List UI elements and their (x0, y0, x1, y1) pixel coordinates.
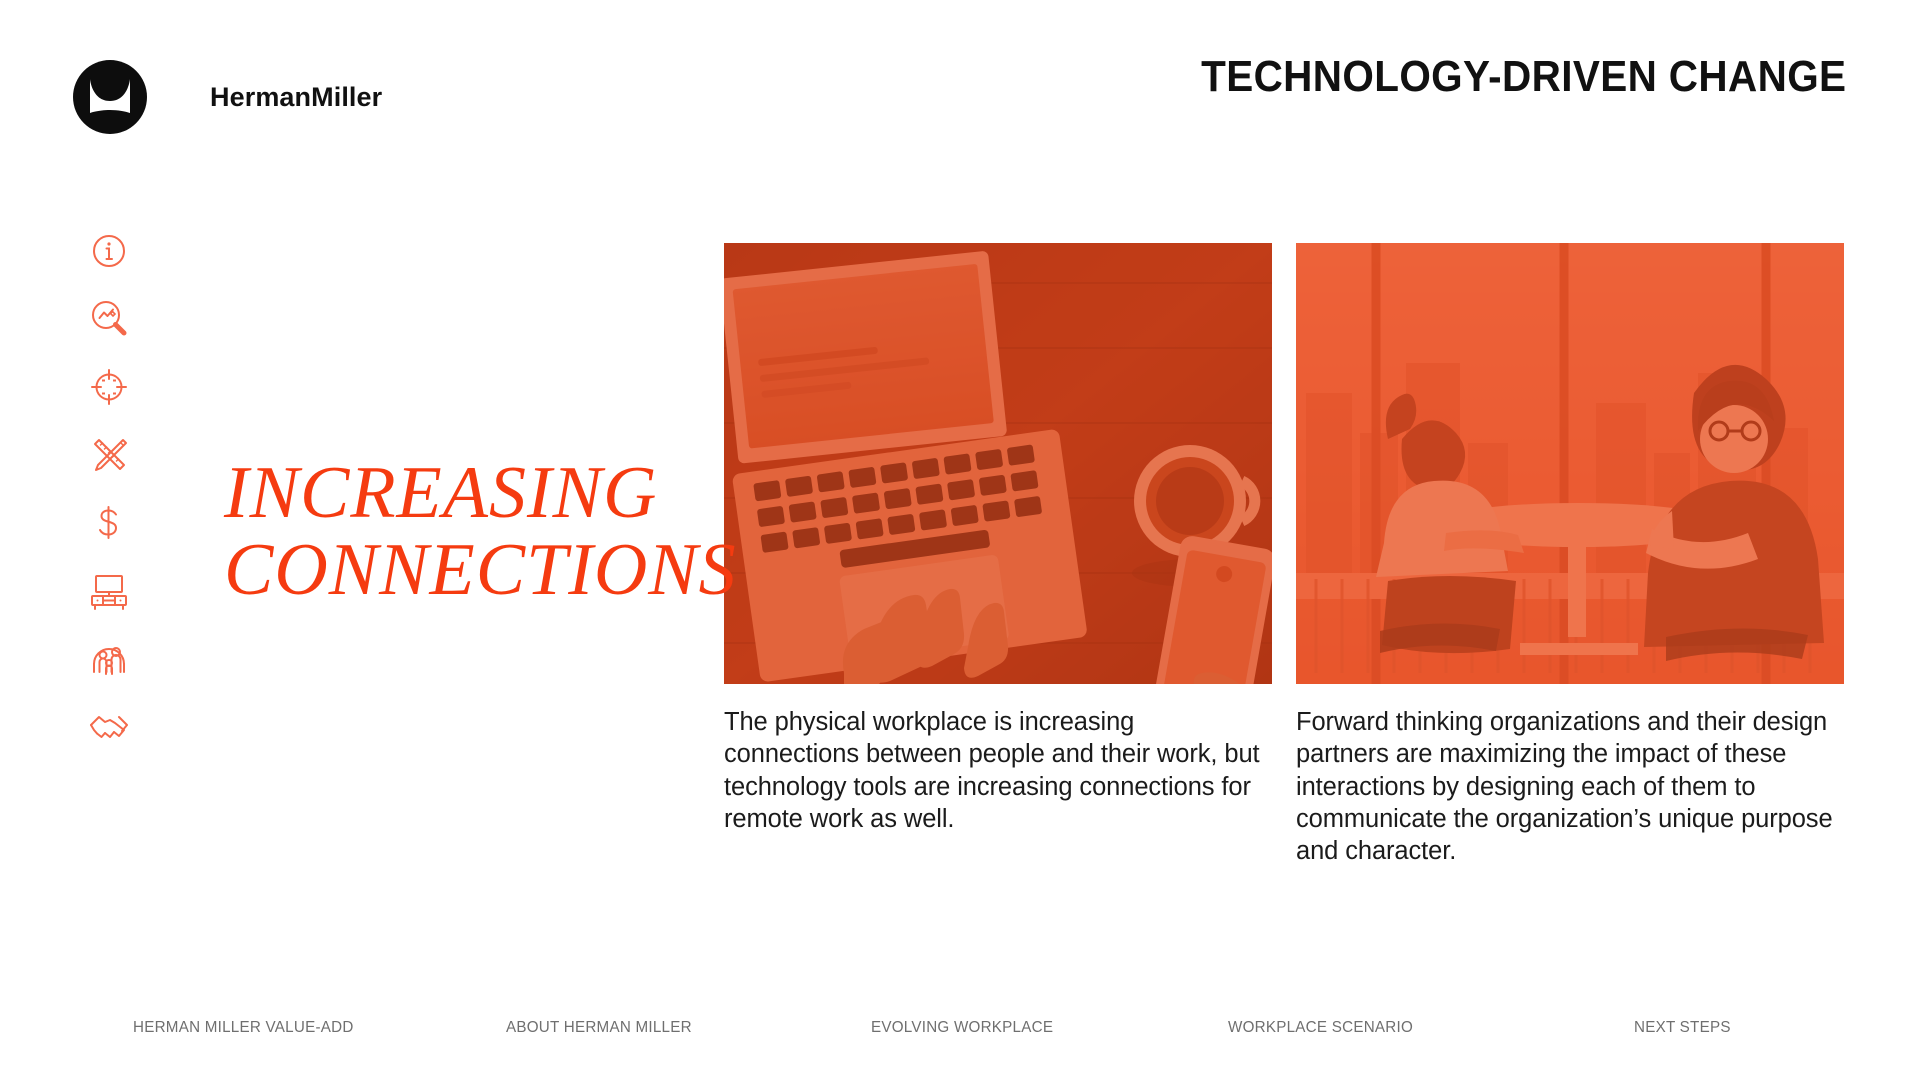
sidebar-item-info-circle-icon[interactable] (86, 228, 132, 274)
sidebar-item-ruler-pencil-icon[interactable] (86, 432, 132, 478)
footer-nav-item-about[interactable]: ABOUT HERMAN MILLER (506, 1019, 692, 1037)
sidebar-icon-rail (86, 228, 146, 772)
page-title: TECHNOLOGY-DRIVEN CHANGE (1201, 52, 1846, 102)
herman-miller-m-logo-icon (73, 60, 147, 134)
footer-nav-item-value-add[interactable]: HERMAN MILLER VALUE-ADD (133, 1019, 354, 1037)
photo-laptop-desk (724, 243, 1272, 684)
sidebar-item-chart-magnifier-icon[interactable] (86, 296, 132, 342)
panel-caption: The physical workplace is increasing con… (724, 706, 1272, 835)
panel-technology-tools: The physical workplace is increasing con… (724, 243, 1272, 867)
headline-line-1: INCREASING (224, 452, 657, 534)
sidebar-item-dollar-sign-icon[interactable] (86, 500, 132, 546)
footer-nav-item-scenario[interactable]: WORKPLACE SCENARIO (1228, 1019, 1413, 1037)
sidebar-item-handshake-icon[interactable] (86, 704, 132, 750)
footer-nav: HERMAN MILLER VALUE-ADD ABOUT HERMAN MIL… (0, 1019, 1920, 1053)
slide-canvas: HermanMiller TECHNOLOGY-DRIVEN CHANGE (0, 0, 1920, 1080)
panel-caption: Forward thinking organizations and their… (1296, 706, 1844, 867)
slide-headline: INCREASING CONNECTIONS (224, 455, 737, 609)
brand-name: HermanMiller (210, 82, 382, 113)
sidebar-item-target-crosshair-icon[interactable] (86, 364, 132, 410)
sidebar-item-people-circle-icon[interactable] (86, 636, 132, 682)
panel-forward-thinking: Forward thinking organizations and their… (1296, 243, 1844, 867)
footer-nav-item-next-steps[interactable]: NEXT STEPS (1634, 1019, 1731, 1037)
footer-nav-item-evolving[interactable]: EVOLVING WORKPLACE (871, 1019, 1053, 1037)
brand-lockup: HermanMiller (73, 60, 382, 134)
headline-line-2: CONNECTIONS (224, 532, 737, 609)
sidebar-item-tv-console-icon[interactable] (86, 568, 132, 614)
photo-two-colleagues-meeting (1296, 243, 1844, 684)
content-panels: The physical workplace is increasing con… (724, 243, 1844, 867)
